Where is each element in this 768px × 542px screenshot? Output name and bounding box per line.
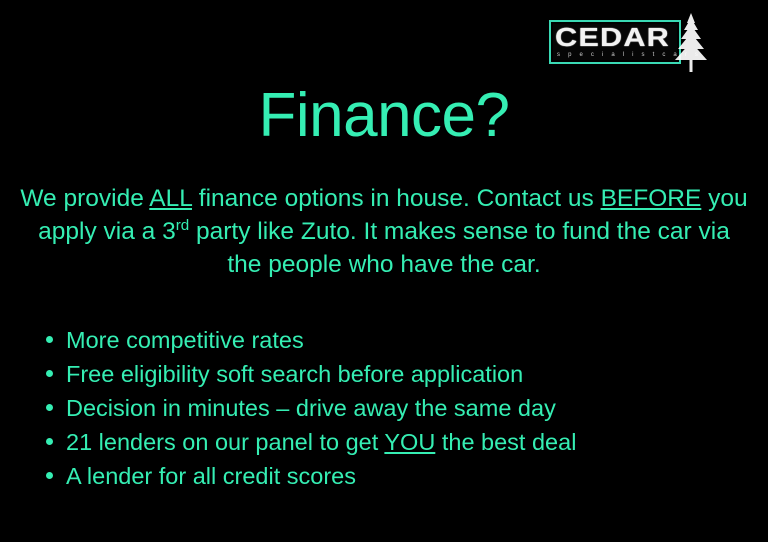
list-item: Decision in minutes – drive away the sam…	[44, 391, 744, 425]
list-item: More competitive rates	[44, 323, 744, 357]
list-item-emphasis-you: YOU	[384, 429, 435, 455]
lead-paragraph: We provide ALL finance options in house.…	[18, 182, 750, 281]
bullet-dot-icon	[46, 438, 53, 445]
bullet-dot-icon	[46, 336, 53, 343]
pine-tree-icon	[661, 12, 721, 74]
list-item-label: More competitive rates	[66, 327, 304, 353]
list-item-label: A lender for all credit scores	[66, 463, 356, 489]
bullet-dot-icon	[46, 404, 53, 411]
benefits-list: More competitive rates Free eligibility …	[44, 323, 744, 493]
lead-emphasis-all: ALL	[149, 185, 192, 212]
lead-part1: We provide	[20, 185, 149, 212]
lead-part4: party like Zuto. It makes sense to fund …	[189, 218, 730, 278]
list-item-label-post: the best deal	[435, 429, 576, 455]
list-item: A lender for all credit scores	[44, 459, 744, 493]
list-item-label: Free eligibility soft search before appl…	[66, 361, 523, 387]
slide-canvas: CEDAR s p e c i a l i s t c a r s Financ…	[0, 0, 768, 542]
lead-part2: finance options in house. Contact us	[192, 185, 601, 212]
list-item: Free eligibility soft search before appl…	[44, 357, 744, 391]
cedar-logo: CEDAR s p e c i a l i s t c a r s	[549, 14, 725, 72]
lead-emphasis-before: BEFORE	[601, 185, 702, 212]
page-title: Finance?	[0, 83, 768, 148]
bullet-dot-icon	[46, 472, 53, 479]
list-item: 21 lenders on our panel to get YOU the b…	[44, 425, 744, 459]
lead-ordinal-suffix: rd	[176, 217, 190, 234]
bullet-dot-icon	[46, 370, 53, 377]
list-item-label-pre: 21 lenders on our panel to get	[66, 429, 384, 455]
list-item-label: Decision in minutes – drive away the sam…	[66, 395, 556, 421]
